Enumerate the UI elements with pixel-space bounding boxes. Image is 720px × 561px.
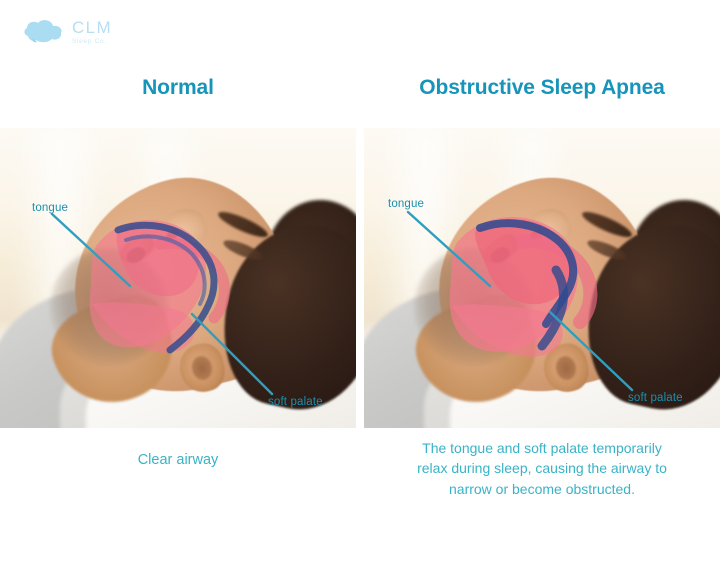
- caption-osa-line-1: The tongue and soft palate temporarily: [364, 438, 720, 458]
- illustration-normal: tongue soft palate: [0, 128, 356, 428]
- panel-heading-normal: Normal: [0, 76, 356, 100]
- illustration-osa: tongue soft palate: [364, 128, 720, 428]
- annotation-tongue-normal: tongue: [32, 202, 68, 214]
- annotation-soft-palate-normal: soft palate: [268, 396, 323, 408]
- brand-name: CLM: [72, 19, 112, 36]
- annotation-tongue-osa: tongue: [388, 198, 424, 210]
- brand-logo: CLM Sleep Co.: [22, 18, 112, 46]
- panel-heading-osa: Obstructive Sleep Apnea: [364, 76, 720, 100]
- caption-normal: Clear airway: [0, 450, 356, 471]
- brand-tagline: Sleep Co.: [72, 39, 112, 46]
- sleeping-head-photo: [30, 174, 356, 424]
- caption-osa-line-2: relax during sleep, causing the airway t…: [364, 458, 720, 478]
- sleeping-head-photo: [394, 174, 720, 424]
- caption-osa-line-3: narrow or become obstructed.: [364, 479, 720, 499]
- annotation-soft-palate-osa: soft palate: [628, 392, 683, 404]
- caption-osa: The tongue and soft palate temporarily r…: [364, 438, 720, 499]
- cloud-pillow-icon: [22, 18, 64, 46]
